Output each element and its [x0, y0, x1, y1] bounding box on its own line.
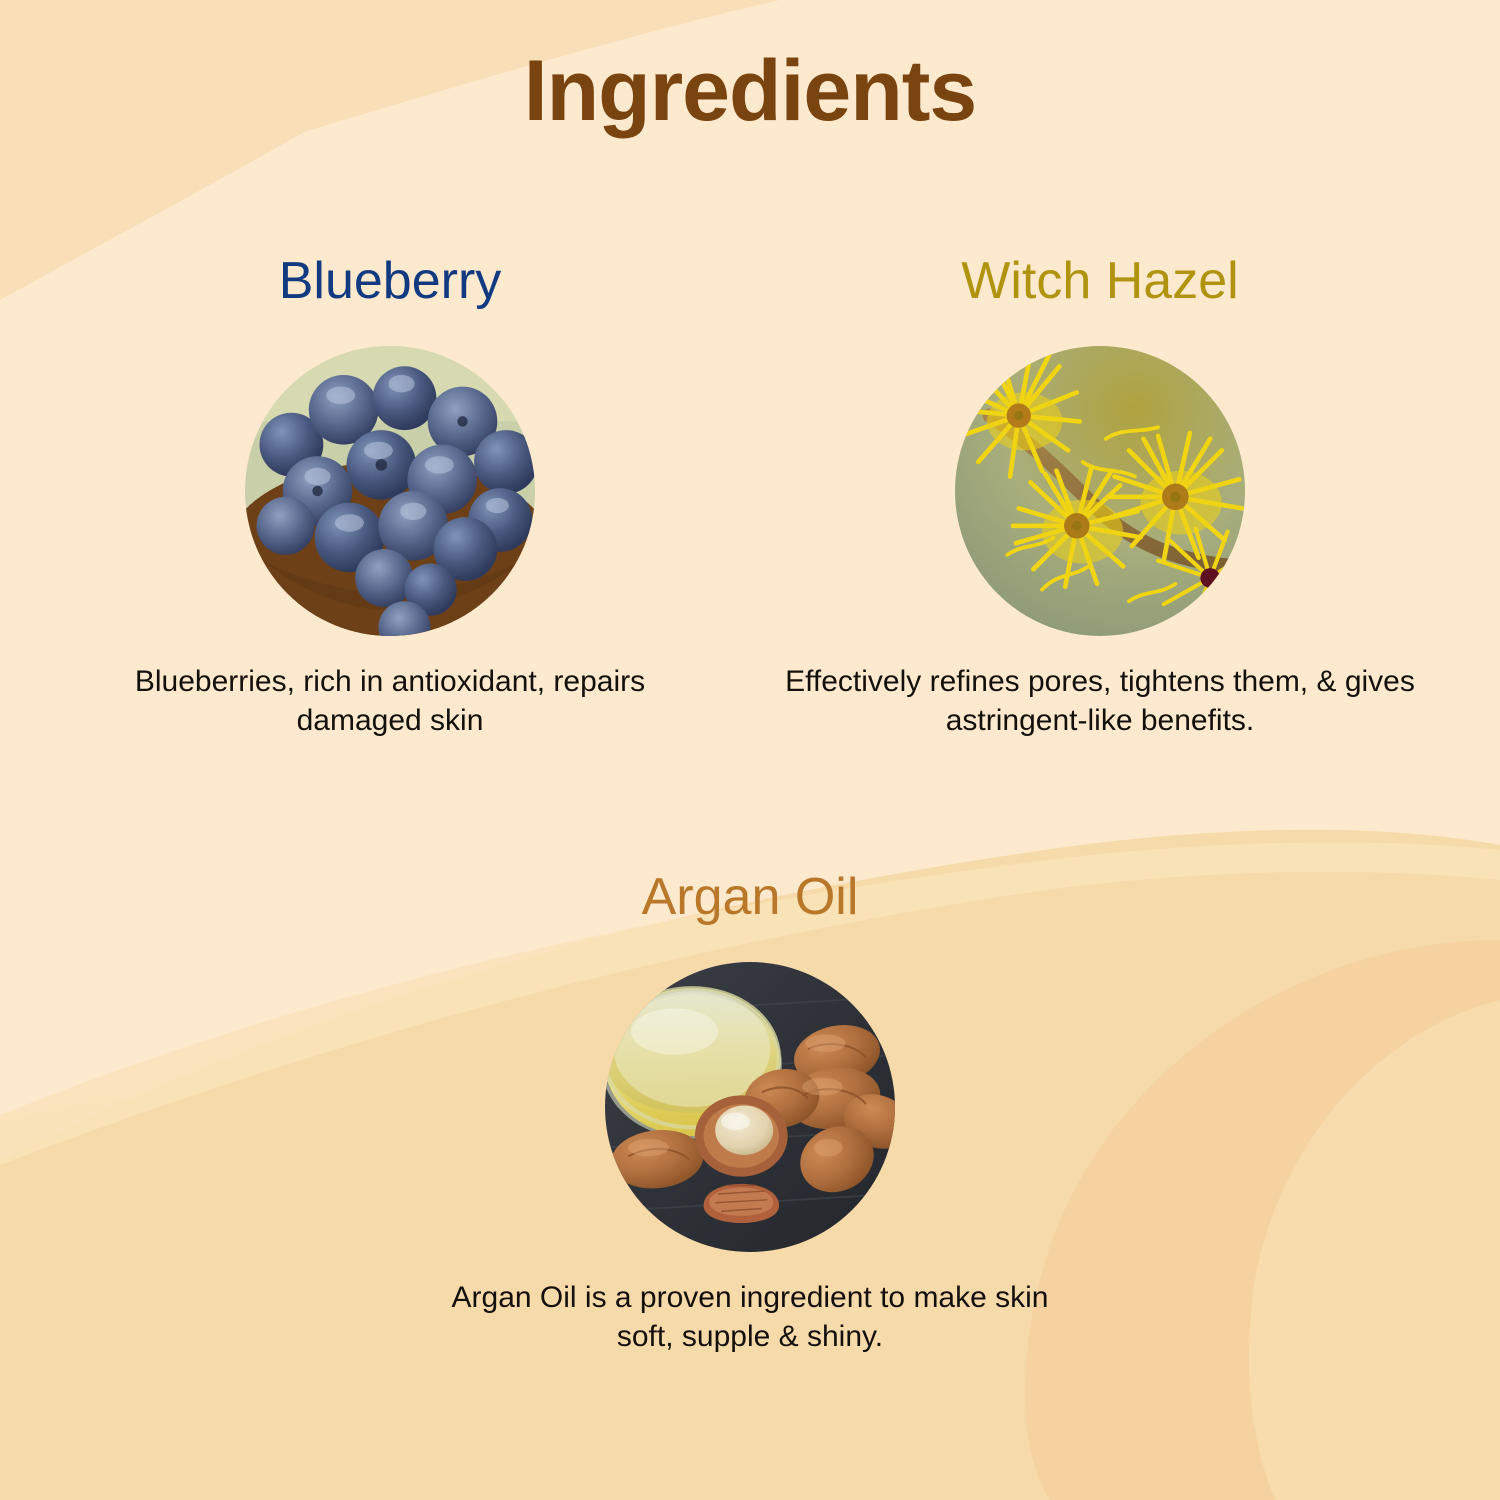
blueberry-photo: [245, 346, 535, 636]
ingredient-card-argan-oil: Argan Oil: [410, 868, 1090, 1357]
ingredient-description-witch-hazel: Effectively refines pores, tightens them…: [780, 662, 1420, 741]
witch-hazel-photo: [955, 346, 1245, 636]
ingredient-thumb-wrap-witch-hazel: [760, 346, 1440, 636]
ingredient-description-argan-oil: Argan Oil is a proven ingredient to make…: [430, 1278, 1070, 1357]
argan-oil-photo: [605, 962, 895, 1252]
ingredient-title-argan-oil: Argan Oil: [410, 868, 1090, 928]
ingredient-thumb-wrap-argan-oil: [410, 962, 1090, 1252]
ingredient-title-witch-hazel: Witch Hazel: [760, 252, 1440, 312]
ingredient-title-blueberry: Blueberry: [60, 252, 720, 312]
ingredient-card-blueberry: Blueberry: [60, 252, 720, 741]
ingredients-infographic: Ingredients Blueberry: [0, 0, 1500, 1500]
ingredient-card-witch-hazel: Witch Hazel: [760, 252, 1440, 741]
ingredient-thumb-wrap-blueberry: [60, 346, 720, 636]
page-title: Ingredients: [0, 44, 1500, 139]
ingredient-description-blueberry: Blueberries, rich in antioxidant, repair…: [70, 662, 710, 741]
